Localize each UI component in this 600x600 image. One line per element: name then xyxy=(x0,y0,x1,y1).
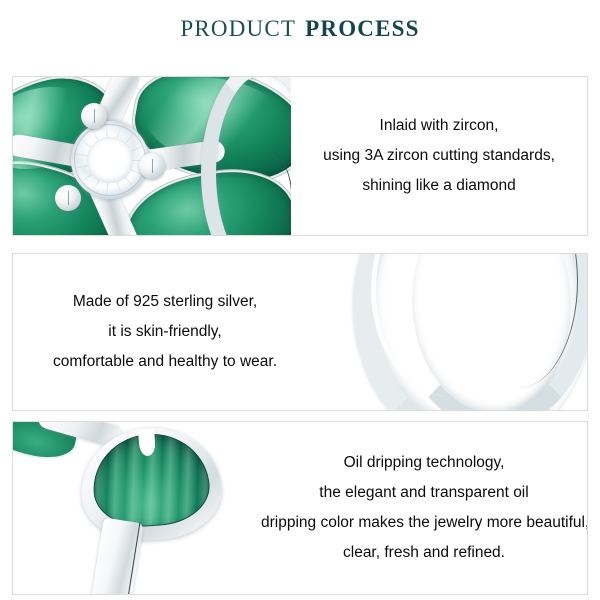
feature-text-line: shining like a diamond xyxy=(291,171,587,201)
ring-band-edge-line xyxy=(227,147,291,235)
page-title-light: PRODUCT xyxy=(180,16,296,41)
feature-panel-silver: Made of 925 sterling silver, it is skin-… xyxy=(12,253,588,411)
feature-panel-oil-drip: Oil dripping technology, the elegant and… xyxy=(12,421,588,595)
zircon-table-facet xyxy=(87,137,132,182)
feature-text-oil-drip: Oil dripping technology, the elegant and… xyxy=(261,422,587,594)
page-title-bold: PROCESS xyxy=(305,16,419,41)
feature-text-line: it is skin-friendly, xyxy=(15,317,315,347)
page-title: PRODUCTPROCESS xyxy=(0,16,600,42)
feature-text-line: Oil dripping technology, xyxy=(261,448,587,478)
feature-panel-zircon: Inlaid with zircon, using 3A zircon cutt… xyxy=(12,76,588,236)
feature-text-line: Made of 925 sterling silver, xyxy=(15,287,315,317)
zircon-stone xyxy=(71,121,149,199)
product-process-page: PRODUCTPROCESS xyxy=(0,0,600,600)
prong-bead-left xyxy=(55,185,81,211)
feature-text-line: Inlaid with zircon, xyxy=(291,111,587,141)
feature-text-line: the elegant and transparent oil xyxy=(261,478,587,508)
prong-bead-top xyxy=(81,103,107,129)
feature-text-zircon: Inlaid with zircon, using 3A zircon cutt… xyxy=(291,77,587,235)
feature-text-line: dripping color makes the jewelry more be… xyxy=(261,508,587,538)
prong-bead-right xyxy=(139,153,165,179)
oil-drip-leaf-photo xyxy=(13,422,263,594)
feature-text-line: clear, fresh and refined. xyxy=(261,538,587,568)
silver-band-photo xyxy=(309,254,587,410)
feature-text-line: comfortable and healthy to wear. xyxy=(15,347,315,377)
feature-text-silver: Made of 925 sterling silver, it is skin-… xyxy=(15,254,315,410)
clover-zircon-macro-photo xyxy=(13,77,291,235)
feature-text-line: using 3A zircon cutting standards, xyxy=(291,141,587,171)
